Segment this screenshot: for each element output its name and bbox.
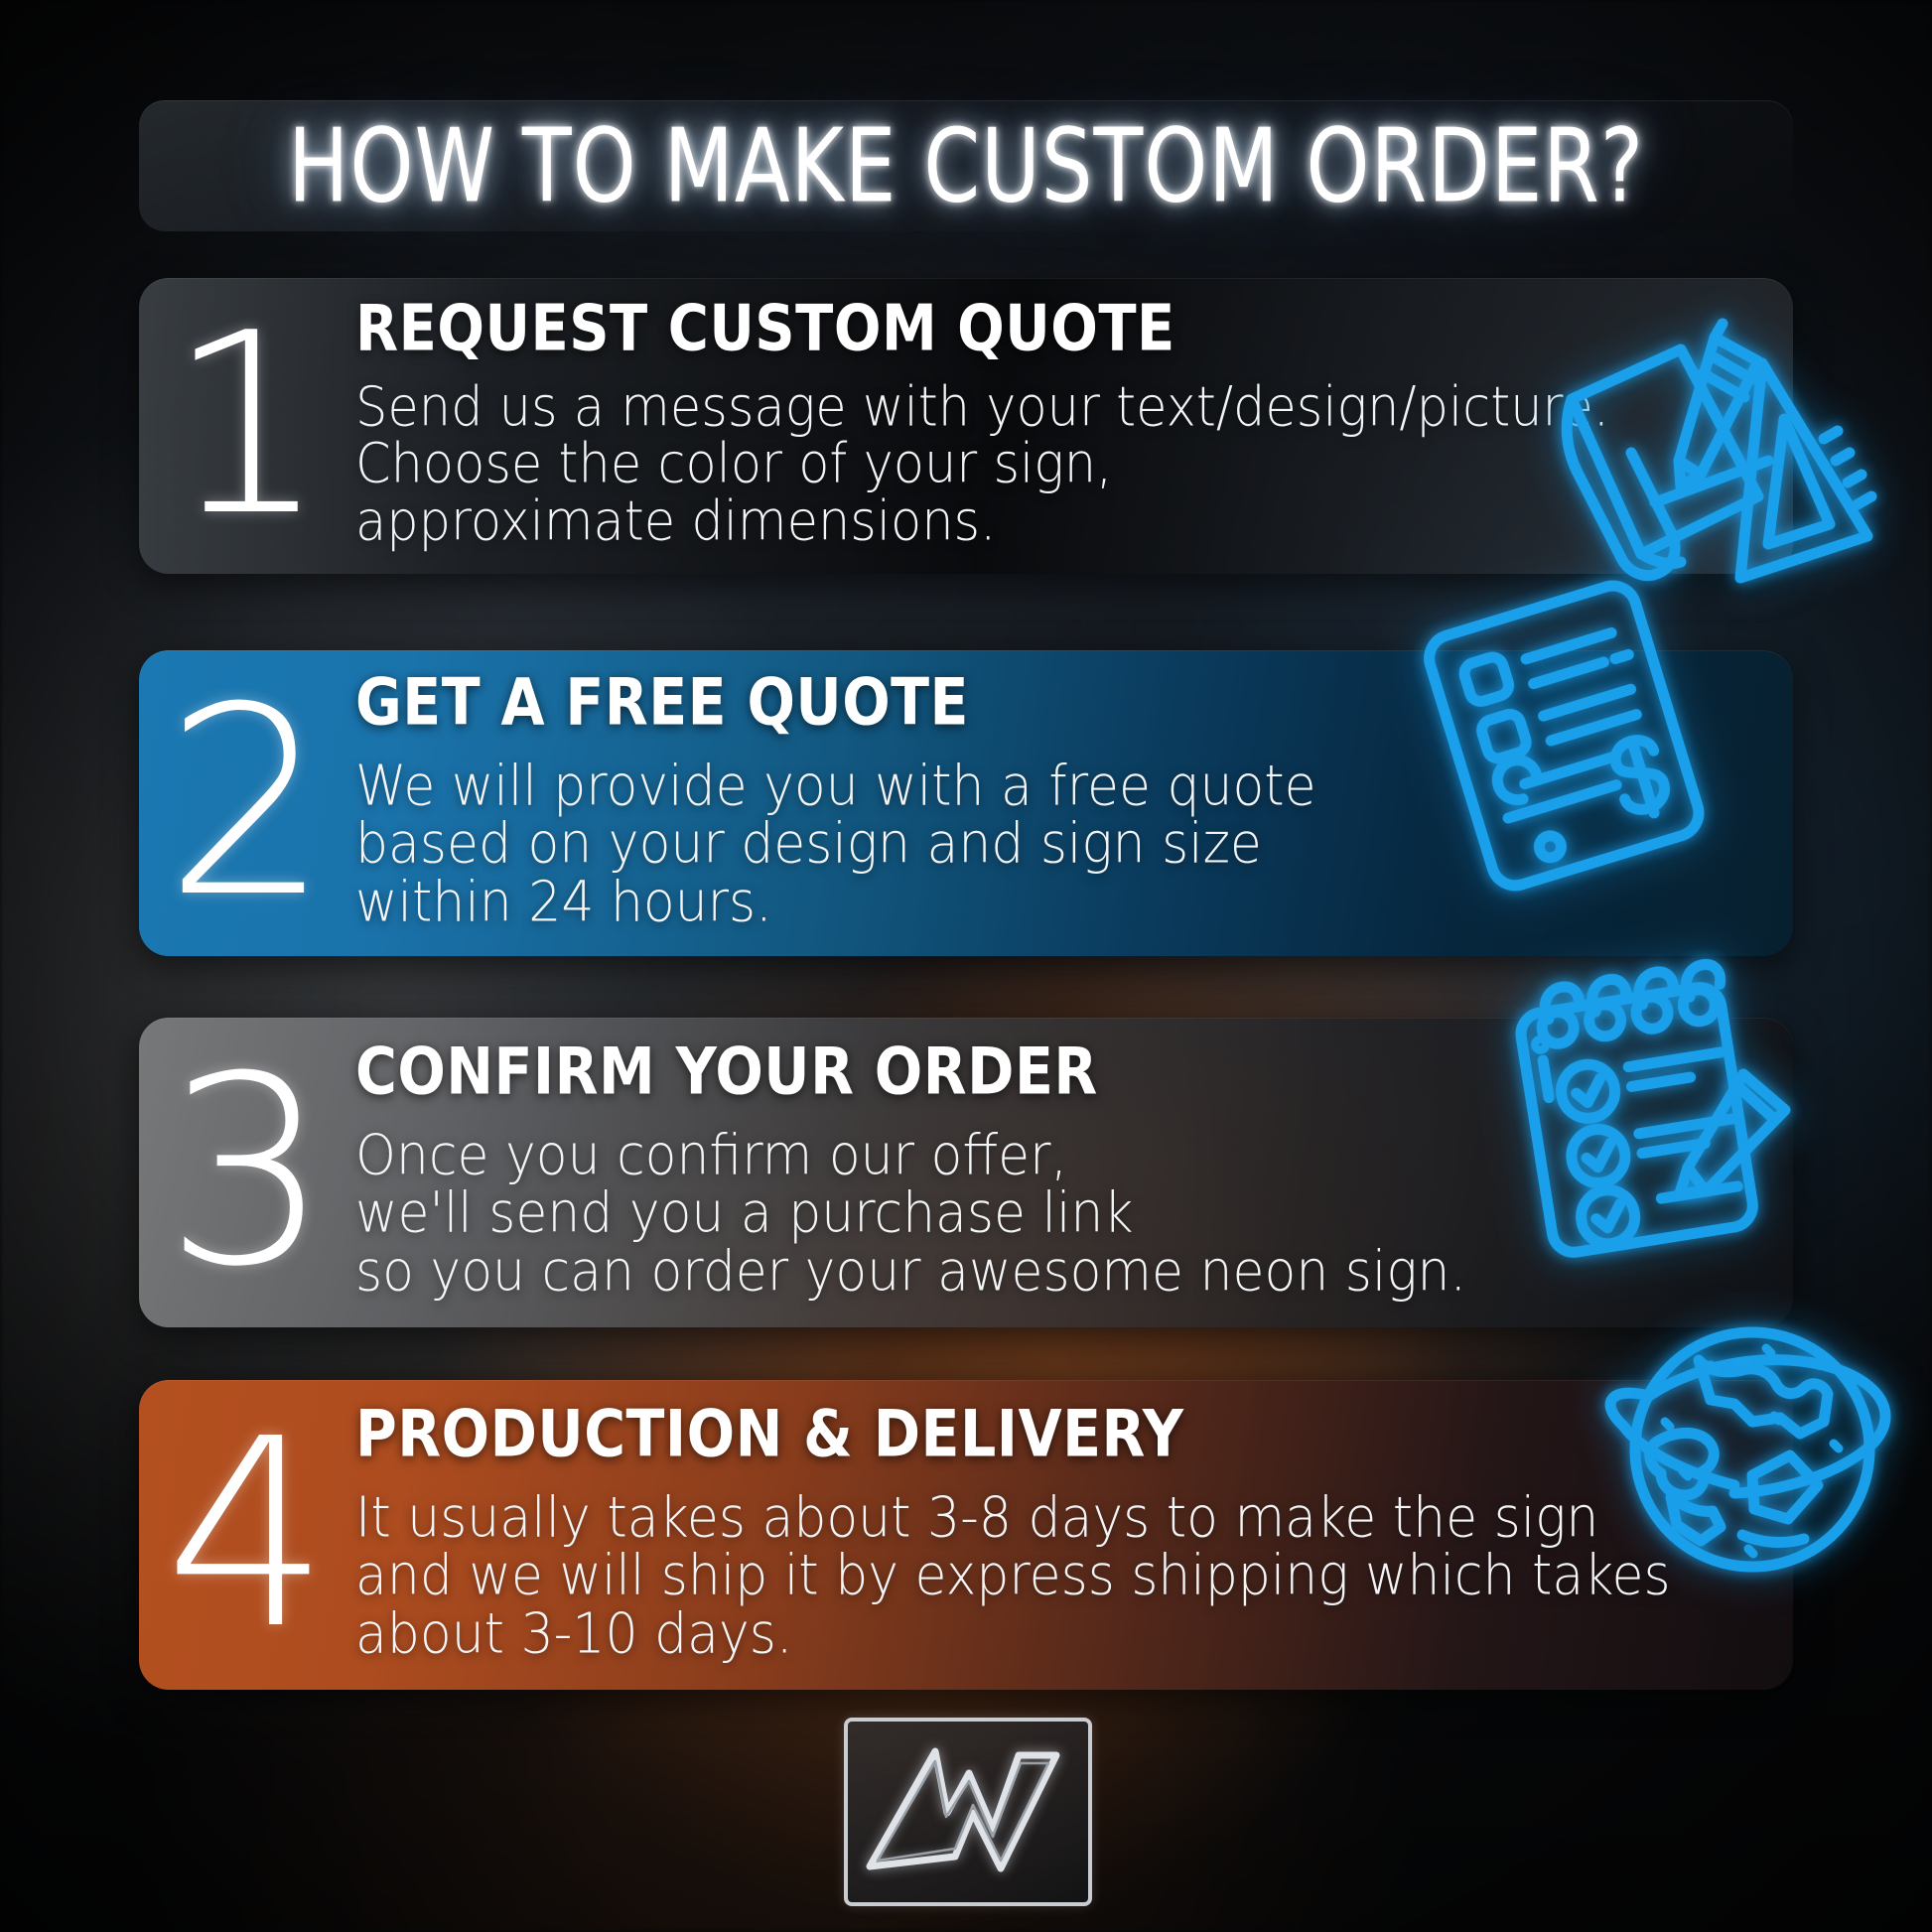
step-card-1: 1 REQUEST CUSTOM QUOTE Send us a message… <box>139 278 1793 574</box>
step-body-3: CONFIRM YOUR ORDER Once you confirm our … <box>355 1044 1793 1301</box>
step-title-2: GET A FREE QUOTE <box>355 671 1753 736</box>
step-body-2: GET A FREE QUOTE We will provide you wit… <box>355 675 1793 931</box>
step-line-1-2: Choose the color of your sign, <box>355 434 1753 495</box>
step-title-1: REQUEST CUSTOM QUOTE <box>355 298 1753 361</box>
step-body-1: REQUEST CUSTOM QUOTE Send us a message w… <box>355 302 1793 549</box>
step-line-4-2: and we will ship it by express shipping … <box>355 1545 1753 1607</box>
page-title-bar: HOW TO MAKE CUSTOM ORDER? <box>139 100 1793 231</box>
step-line-3-3: so you can order your awesome neon sign. <box>355 1240 1753 1303</box>
step-card-3: 3 CONFIRM YOUR ORDER Once you confirm ou… <box>139 1018 1793 1327</box>
step-line-2-1: We will provide you with a free quote <box>355 756 1753 818</box>
page-title: HOW TO MAKE CUSTOM ORDER? <box>288 106 1644 225</box>
step-card-2: 2 GET A FREE QUOTE We will provide you w… <box>139 650 1793 956</box>
step-card-4: 4 PRODUCTION & DELIVERY It usually takes… <box>139 1380 1793 1690</box>
step-line-1-3: approximate dimensions. <box>355 490 1753 552</box>
step-body-4: PRODUCTION & DELIVERY It usually takes a… <box>355 1407 1793 1663</box>
step-line-2-2: based on your design and sign size <box>355 813 1753 876</box>
step-number-2: 2 <box>139 697 355 910</box>
brand-logo <box>844 1718 1092 1906</box>
step-title-4: PRODUCTION & DELIVERY <box>355 1403 1753 1467</box>
step-number-3: 3 <box>139 1066 355 1280</box>
step-number-1: 1 <box>139 324 355 529</box>
step-line-3-2: we'll send you a purchase link <box>355 1182 1753 1245</box>
step-title-3: CONFIRM YOUR ORDER <box>355 1040 1753 1105</box>
step-line-3-1: Once you confirm our offer, <box>355 1125 1753 1187</box>
step-number-4: 4 <box>139 1429 355 1642</box>
step-line-4-1: It usually takes about 3-8 days to make … <box>355 1487 1753 1550</box>
step-line-4-3: about 3-10 days. <box>355 1602 1753 1665</box>
step-line-1-1: Send us a message with your text/design/… <box>355 377 1753 439</box>
logo-w-mark <box>844 1718 1092 1906</box>
step-line-2-3: within 24 hours. <box>355 871 1753 933</box>
